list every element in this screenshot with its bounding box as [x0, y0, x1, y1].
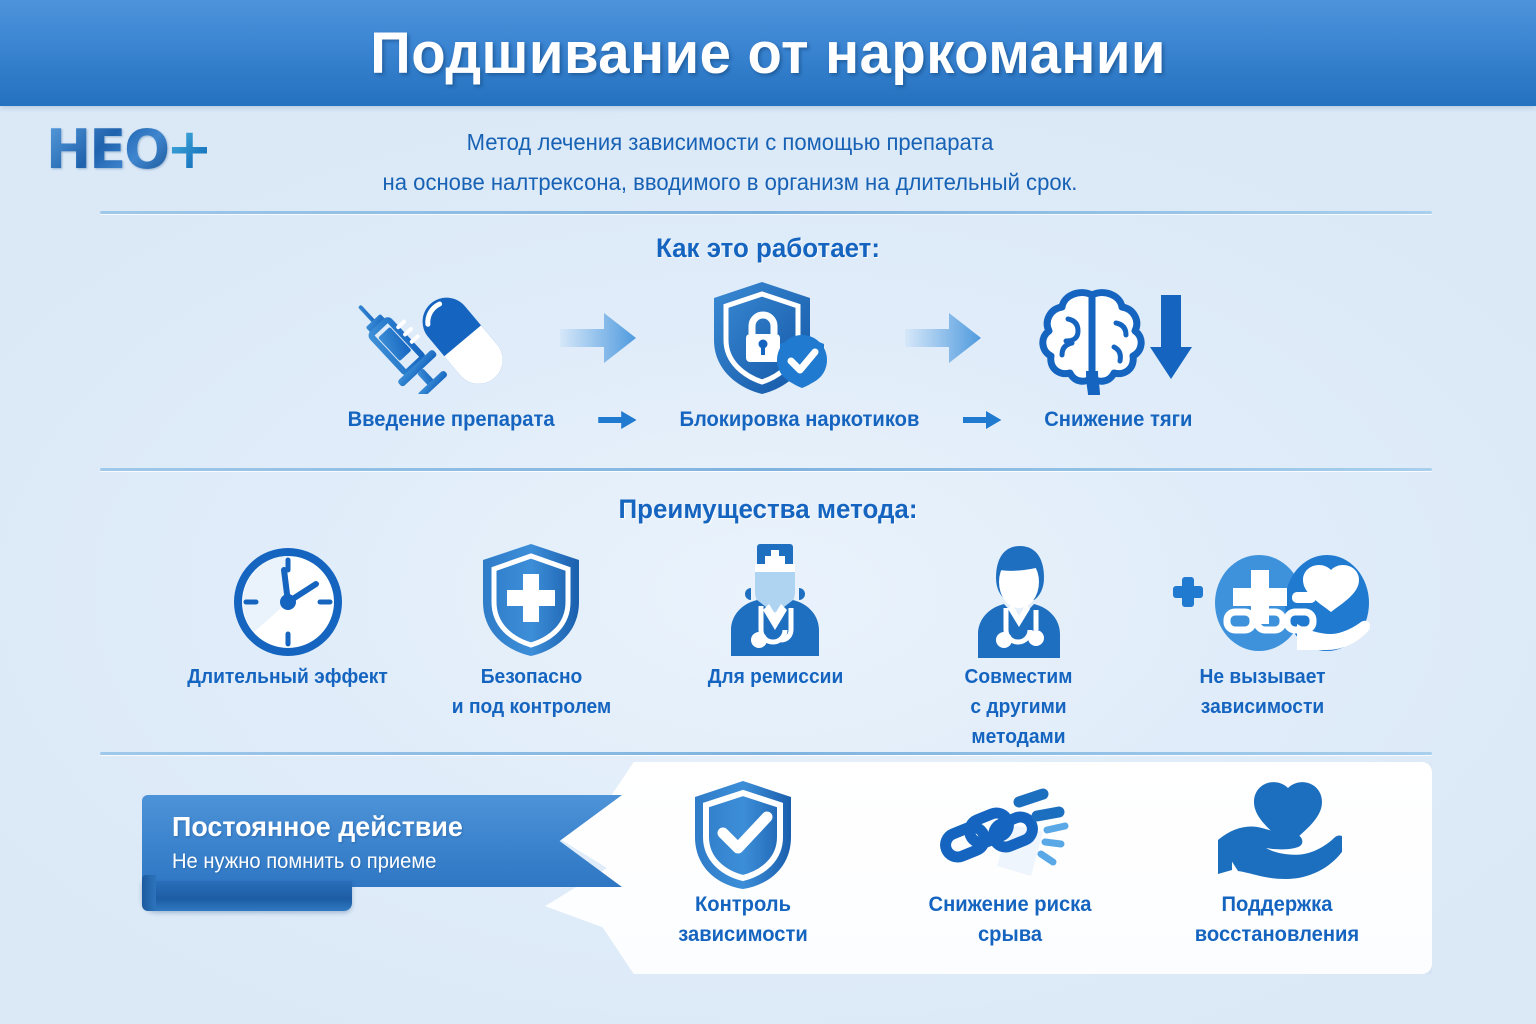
plus-chain-heart-icon: [1155, 540, 1370, 658]
divider-2: [100, 468, 1432, 471]
advantage-label-1-line1: Длительный эффект: [184, 662, 390, 692]
logo-plus-icon: +: [166, 117, 213, 182]
advantages-icon-row: [180, 540, 1370, 658]
intro-line-2: на основе налтрексона, вводимого в орган…: [317, 162, 1143, 202]
broken-chain-icon: [900, 780, 1120, 890]
right-arrow-small-icon-1: [596, 409, 638, 431]
advantage-label-2: Безопасно и под контролем: [428, 662, 634, 722]
advantage-label-4: Совместим с другими методами: [916, 662, 1122, 752]
outcome-label-2-line1: Снижение риска срыва: [900, 890, 1121, 950]
shield-cross-icon: [424, 540, 639, 658]
hand-heart-icon: [1167, 780, 1387, 890]
outcome-label-1: Контроль зависимости: [633, 890, 854, 950]
logo-text: НЕО: [46, 118, 168, 181]
advantage-label-4-line1: Совместим: [916, 662, 1122, 692]
divider-3: [100, 752, 1432, 755]
ribbon-title: Постоянное действие: [172, 808, 575, 846]
doctor-icon: [668, 540, 883, 658]
header-bar: Подшивание от наркомании: [0, 0, 1536, 106]
brand-logo[interactable]: НЕО +: [46, 118, 246, 180]
advantage-label-5-line1: Не вызывает: [1159, 662, 1365, 692]
advantage-label-3: Для ремиссии: [672, 662, 878, 692]
advantage-label-5-line2: зависимости: [1159, 692, 1365, 722]
step-label-1: Введение препарата: [348, 408, 555, 432]
right-arrow-icon: [555, 308, 641, 368]
advantage-label-3-line1: Для ремиссии: [672, 662, 878, 692]
clock-icon: [180, 540, 395, 658]
outcome-label-3-line1: Поддержка: [1166, 890, 1387, 920]
outcomes-label-row: Контроль зависимости Снижение риска срыв…: [610, 890, 1410, 950]
advantages-title: Преимущества метода:: [31, 494, 1506, 525]
advantages-label-row: Длительный эффект Безопасно и под контро…: [180, 662, 1370, 752]
outcome-label-2: Снижение риска срыва: [900, 890, 1121, 950]
advantage-label-4-line3: методами: [916, 722, 1122, 752]
outcome-label-3-line2: восстановления: [1166, 920, 1387, 950]
advantage-label-4-line2: с другими: [916, 692, 1122, 722]
step-label-3: Снижение тяги: [1044, 408, 1192, 432]
outcomes-icon-row: [610, 780, 1410, 890]
shield-check-icon: [633, 780, 853, 890]
shield-lock-icon: [675, 278, 865, 398]
intro-line-1: Метод лечения зависимости с помощью преп…: [317, 122, 1143, 162]
step-label-2: Блокировка наркотиков: [679, 408, 919, 432]
ribbon-tail: [142, 881, 352, 911]
outcome-label-1-line1: Контроль зависимости: [633, 890, 854, 950]
how-it-works-icon-row: [330, 278, 1210, 398]
syringe-pill-icon: [330, 278, 520, 398]
page-title: Подшивание от наркомании: [370, 20, 1166, 87]
intro-text: Метод лечения зависимости с помощью преп…: [317, 122, 1143, 202]
nurse-stethoscope-icon: [911, 540, 1126, 658]
infographic-page: Подшивание от наркомании НЕО + Метод леч…: [0, 0, 1536, 1024]
how-it-works-label-row: Введение препарата Блокировка наркотиков…: [348, 408, 1193, 432]
advantage-label-1: Длительный эффект: [184, 662, 390, 692]
right-arrow-small-icon-2: [961, 409, 1003, 431]
brain-down-arrow-icon: [1020, 278, 1210, 398]
advantage-label-2-line1: Безопасно: [428, 662, 634, 692]
advantage-label-2-line2: и под контролем: [428, 692, 634, 722]
ribbon-subtitle: Не нужно помнить о приеме: [172, 846, 575, 878]
right-arrow-icon-2: [900, 308, 986, 368]
divider-1: [100, 211, 1432, 214]
ribbon-text-block: Постоянное действие Не нужно помнить о п…: [172, 808, 592, 878]
outcome-label-3: Поддержка восстановления: [1166, 890, 1387, 950]
how-it-works-title: Как это работает:: [31, 233, 1506, 264]
advantage-label-5: Не вызывает зависимости: [1159, 662, 1365, 722]
